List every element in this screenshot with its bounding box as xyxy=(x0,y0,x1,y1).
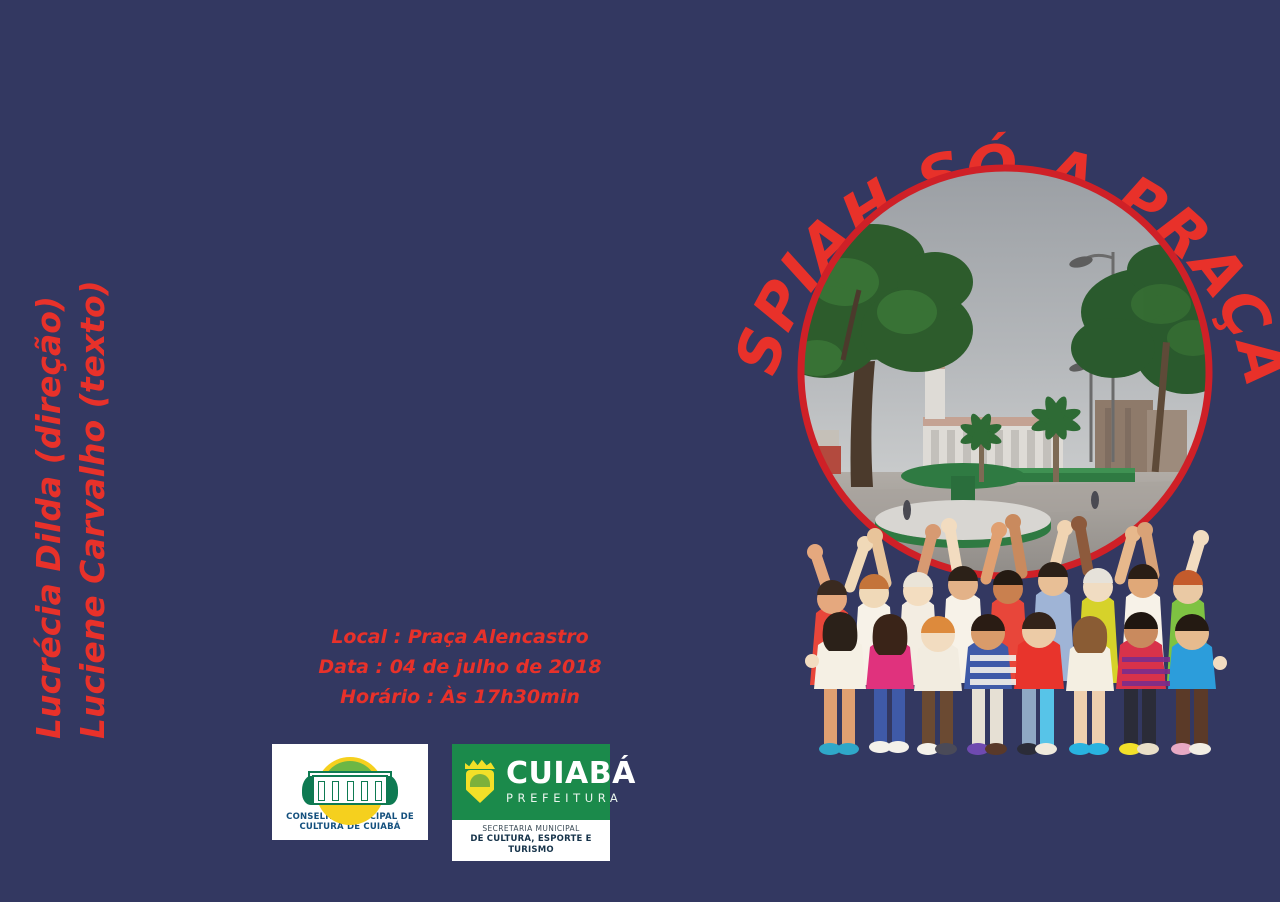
secretaria-line1: SECRETARIA MUNICIPAL xyxy=(454,824,608,834)
secretaria-line2: DE CULTURA, ESPORTE E TURISMO xyxy=(454,834,608,856)
event-date: Data : 04 de julho de 2018 xyxy=(300,652,620,682)
logo-conselho-municipal-cultura: CONSELHO MUNICIPAL DE CULTURA DE CUIABÁ xyxy=(272,744,428,840)
credits-block: Lucrécia Dilda (direção) Luciene Carvalh… xyxy=(0,0,140,902)
event-time: Horário : Às 17h30min xyxy=(300,682,620,712)
credit-writer: Luciene Carvalho (texto) xyxy=(73,280,112,739)
poster-canvas: Lucrécia Dilda (direção) Luciene Carvalh… xyxy=(0,0,1280,902)
prefeitura-subtitle: PREFEITURA xyxy=(506,793,636,805)
event-details: Local : Praça Alencastro Data : 04 de ju… xyxy=(300,622,620,712)
event-location: Local : Praça Alencastro xyxy=(300,622,620,652)
coat-of-arms-icon xyxy=(462,757,498,807)
conselho-building-icon xyxy=(294,755,406,807)
prefeitura-city-name: CUIABÁ xyxy=(506,759,636,789)
credit-director: Lucrécia Dilda (direção) xyxy=(29,296,68,739)
logo-strip: CONSELHO MUNICIPAL DE CULTURA DE CUIABÁ … xyxy=(272,744,610,861)
right-artwork: ESPIAH SÓ A PRAÇA! xyxy=(740,40,1280,840)
crowd-illustration xyxy=(790,495,1240,795)
logo-prefeitura-cuiaba: CUIABÁ PREFEITURA SECRETARIA MUNICIPAL D… xyxy=(452,744,610,861)
